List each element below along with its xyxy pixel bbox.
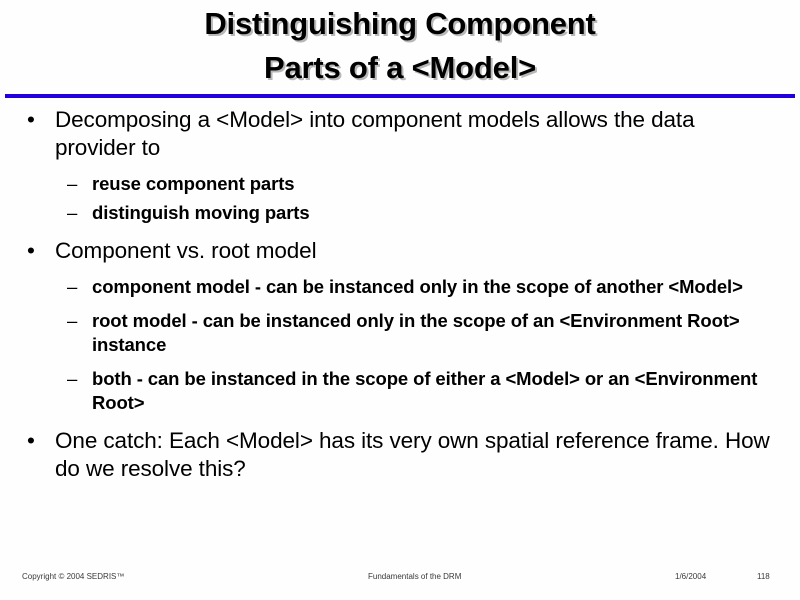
bullet-text: root model - can be instanced only in th… xyxy=(92,310,740,355)
slide-title: Distinguishing Component Parts of a <Mod… xyxy=(0,2,800,90)
bullet-marker-dot: • xyxy=(27,427,35,455)
bullet-marker-dash: – xyxy=(67,201,77,225)
bullet-item: • Decomposing a <Model> into component m… xyxy=(0,106,800,162)
footer-copyright: Copyright © 2004 SEDRIS™ xyxy=(22,572,124,581)
slide-body: • Decomposing a <Model> into component m… xyxy=(0,106,800,488)
bullet-text: distinguish moving parts xyxy=(92,202,310,223)
bullet-item: – distinguish moving parts xyxy=(0,201,800,225)
bullet-marker-dash: – xyxy=(67,172,77,196)
bullet-item: – component model - can be instanced onl… xyxy=(0,275,800,299)
bullet-text: reuse component parts xyxy=(92,173,294,194)
bullet-marker-dot: • xyxy=(27,106,35,134)
bullet-item: – both - can be instanced in the scope o… xyxy=(0,367,800,415)
title-line-2: Parts of a <Model> xyxy=(0,46,800,90)
bullet-text: Decomposing a <Model> into component mod… xyxy=(55,107,694,160)
bullet-text: both - can be instanced in the scope of … xyxy=(92,368,757,413)
title-line-1: Distinguishing Component xyxy=(0,2,800,46)
footer-page-number: 118 xyxy=(757,572,770,581)
bullet-marker-dash: – xyxy=(67,275,77,299)
footer-deck-title: Fundamentals of the DRM xyxy=(368,572,461,581)
bullet-item: • Component vs. root model xyxy=(0,237,800,265)
bullet-item: – reuse component parts xyxy=(0,172,800,196)
bullet-marker-dash: – xyxy=(67,309,77,333)
bullet-text: One catch: Each <Model> has its very own… xyxy=(55,428,770,481)
slide-footer: Copyright © 2004 SEDRIS™ Fundamentals of… xyxy=(0,572,800,592)
bullet-item: – root model - can be instanced only in … xyxy=(0,309,800,357)
footer-date: 1/6/2004 xyxy=(675,572,706,581)
bullet-marker-dot: • xyxy=(27,237,35,265)
bullet-item: • One catch: Each <Model> has its very o… xyxy=(0,427,800,483)
bullet-text: component model - can be instanced only … xyxy=(92,276,743,297)
bullet-text: Component vs. root model xyxy=(55,238,316,263)
slide-canvas: Distinguishing Component Parts of a <Mod… xyxy=(0,0,800,600)
bullet-marker-dash: – xyxy=(67,367,77,391)
title-divider-rule xyxy=(5,94,795,98)
